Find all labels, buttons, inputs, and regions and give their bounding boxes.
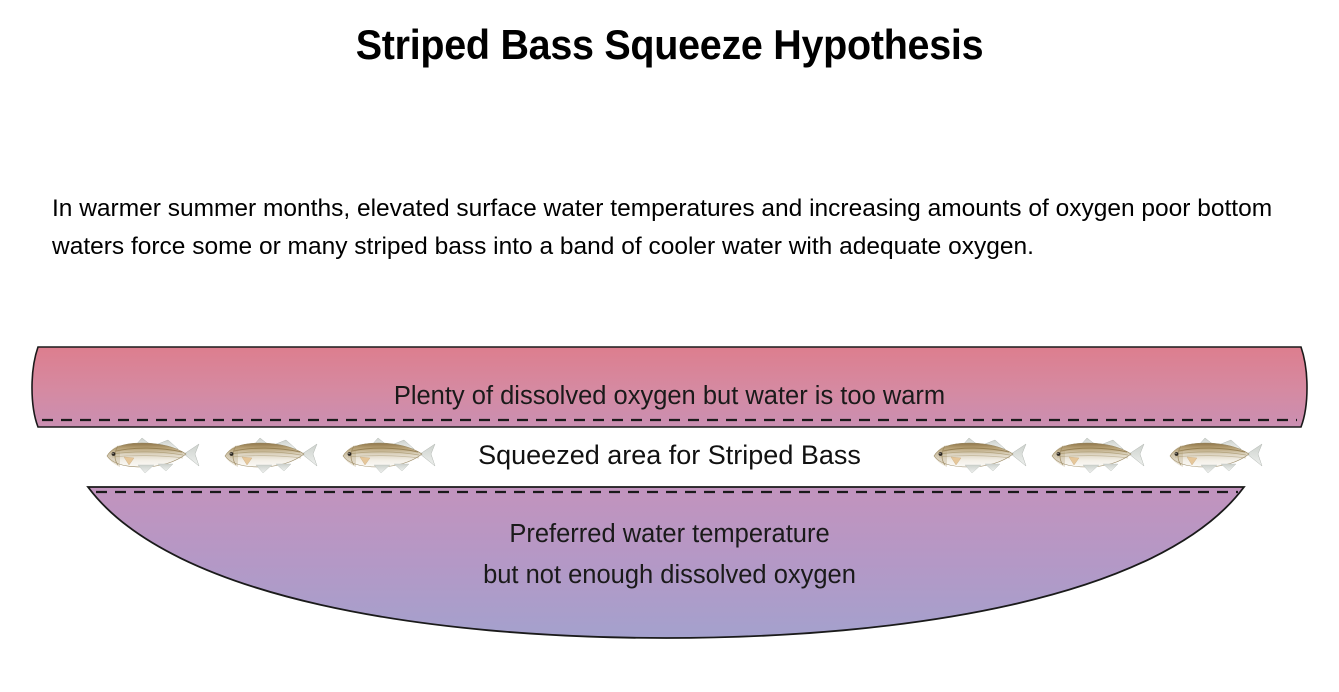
cold-water-layer — [88, 487, 1244, 638]
striped-bass-fish-icon — [925, 433, 1029, 477]
warm-water-layer — [32, 347, 1307, 427]
striped-bass-fish-icon — [1043, 433, 1147, 477]
page-title: Striped Bass Squeeze Hypothesis — [40, 22, 1299, 68]
diagram-shapes — [0, 330, 1339, 660]
striped-bass-fish-icon — [216, 433, 320, 477]
squeeze-diagram: Plenty of dissolved oxygen but water is … — [0, 330, 1339, 660]
intro-paragraph: In warmer summer months, elevated surfac… — [52, 190, 1292, 266]
striped-bass-fish-icon — [334, 433, 438, 477]
striped-bass-fish-icon — [98, 433, 202, 477]
striped-bass-fish-icon — [1161, 433, 1265, 477]
